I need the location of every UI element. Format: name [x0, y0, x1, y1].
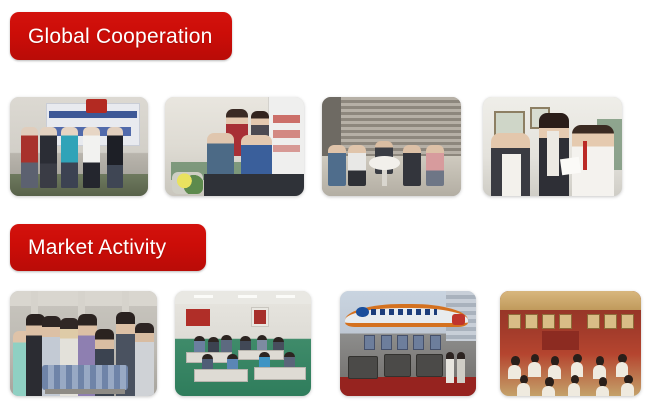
- photo-scene-training-classroom: [175, 291, 311, 396]
- photo-row-global-cooperation: group photo of five men standing in fron…: [0, 96, 650, 196]
- gallery-page: Global Cooperation group photo of five m…: [0, 0, 650, 404]
- section-banner-global-cooperation: Global Cooperation: [10, 12, 232, 60]
- section-banner-market-activity: Market Activity: [10, 224, 206, 271]
- photo-thumbnail[interactable]: large audience seated in a red and gold …: [500, 291, 641, 396]
- photo-scene-group-backdrop: [10, 97, 148, 196]
- photo-thumbnail[interactable]: group photo of five men standing in fron…: [10, 97, 148, 196]
- photo-scene-round-table-meeting: [322, 97, 461, 196]
- photo-thumbnail[interactable]: two men and a woman posing together in a…: [483, 97, 622, 196]
- photo-scene-factory-tour: [10, 291, 157, 396]
- photo-scene-office-portrait: [483, 97, 622, 196]
- photo-thumbnail[interactable]: company exhibition booth with orange arc…: [340, 291, 476, 396]
- photo-thumbnail[interactable]: two men seated at a desk with two women …: [165, 97, 304, 196]
- photo-thumbnail[interactable]: visitors inspecting products on a cart d…: [10, 291, 157, 396]
- section-title-market-activity: Market Activity: [28, 237, 166, 258]
- photo-thumbnail[interactable]: attendees seated at desks in a training …: [175, 291, 311, 396]
- photo-thumbnail[interactable]: five people seated around a round table …: [322, 97, 461, 196]
- photo-row-market-activity: visitors inspecting products on a cart d…: [0, 290, 650, 397]
- photo-scene-conference-hall: [500, 291, 641, 396]
- section-title-global-cooperation: Global Cooperation: [28, 26, 213, 47]
- photo-scene-exhibition-booth: [340, 291, 476, 396]
- photo-scene-showroom-desk: [165, 97, 304, 196]
